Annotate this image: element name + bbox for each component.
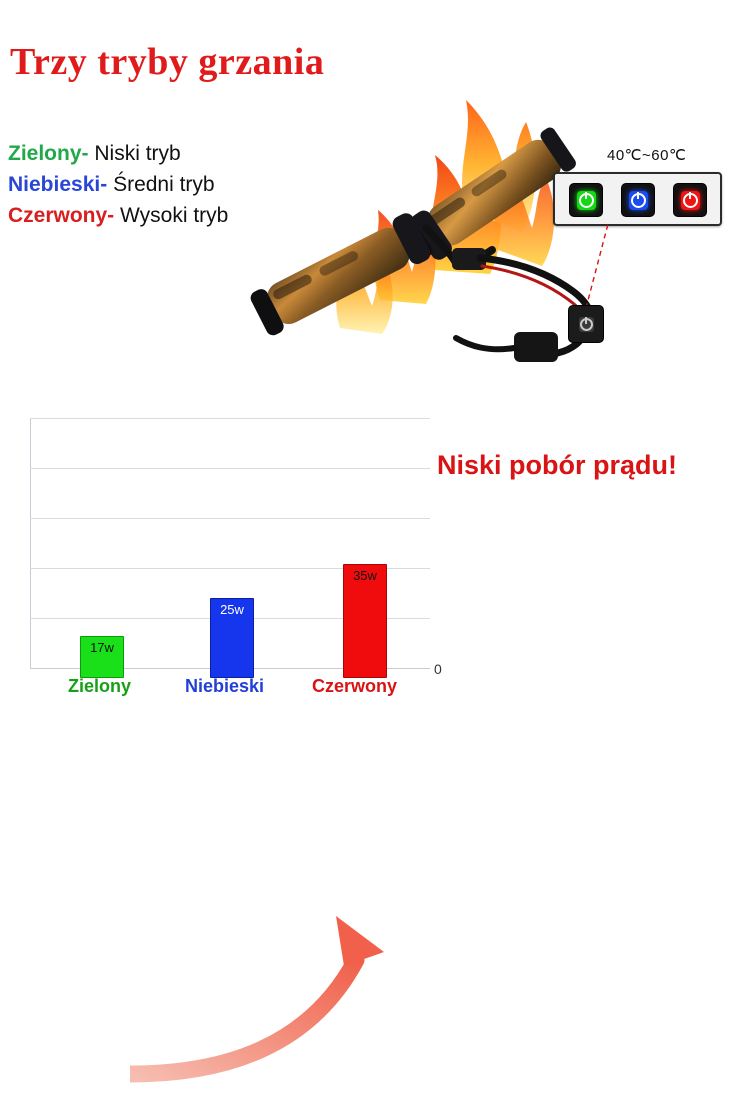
chart-category-niebieski: Niebieski <box>185 676 264 697</box>
power-icon <box>681 191 700 210</box>
grid-line <box>30 518 430 519</box>
legend-value-red: Wysoki tryb <box>120 204 228 227</box>
inline-power-switch[interactable] <box>568 305 604 343</box>
legend-value-blue: Średni tryb <box>113 173 215 196</box>
temperature-range-label: 40℃~60℃ <box>607 146 686 164</box>
green-mode-button[interactable] <box>569 183 603 217</box>
bar-zielony: 17w <box>80 636 124 678</box>
bar-niebieski: 25w <box>210 598 254 678</box>
legend-row-green: Zielony- Niski tryb <box>8 138 228 169</box>
mode-legend: Zielony- Niski tryb Niebieski- Średni tr… <box>8 138 228 231</box>
grid-line <box>30 418 430 419</box>
chart-category-zielony: Zielony <box>68 676 131 697</box>
callout-leader-line <box>578 222 618 310</box>
bar-value-czerwony: 35w <box>353 568 377 583</box>
chart-category-czerwony: Czerwony <box>312 676 397 697</box>
legend-value-green: Niski tryb <box>94 142 180 165</box>
legend-key-green: Zielony- <box>8 142 89 165</box>
mode-controller-panel <box>553 172 722 226</box>
bar-czerwony: 35w <box>343 564 387 678</box>
power-icon <box>629 191 648 210</box>
chart-y-axis <box>30 418 31 668</box>
red-mode-button[interactable] <box>673 183 707 217</box>
trend-arrow <box>130 878 460 1098</box>
blue-mode-button[interactable] <box>621 183 655 217</box>
legend-row-blue: Niebieski- Średni tryb <box>8 169 228 200</box>
legend-row-red: Czerwony- Wysoki tryb <box>8 200 228 231</box>
power-icon <box>577 191 596 210</box>
bar-value-niebieski: 25w <box>220 602 244 617</box>
chart-zero-label: 0 <box>434 661 442 677</box>
legend-key-blue: Niebieski- <box>8 173 107 196</box>
grid-line <box>30 468 430 469</box>
power-icon <box>579 317 594 332</box>
legend-key-red: Czerwony- <box>8 204 114 227</box>
bar-value-zielony: 17w <box>90 640 114 655</box>
low-power-callout: Niski pobór prądu! <box>437 450 677 481</box>
power-consumption-chart: 17w 25w 35w 0 Zielony Niebieski Czerwony <box>30 418 430 678</box>
